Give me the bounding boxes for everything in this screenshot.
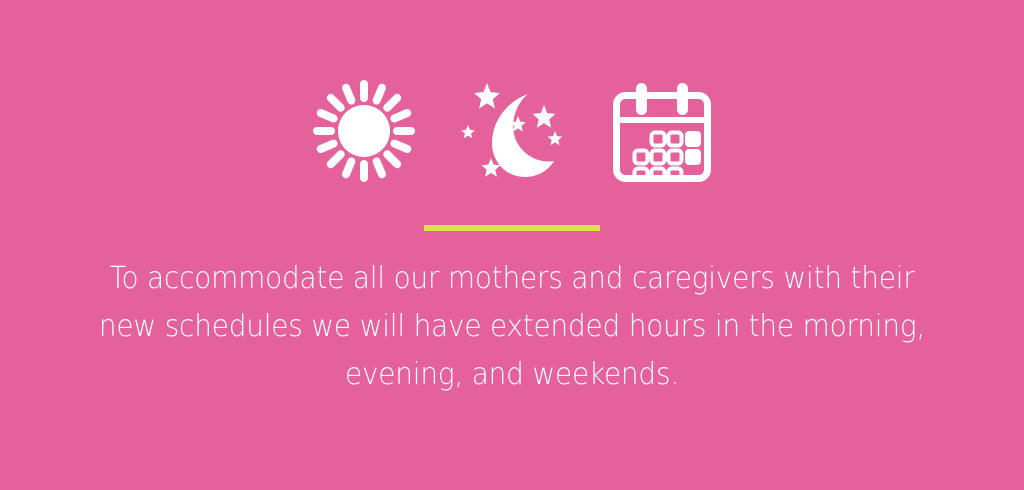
announcement-text: To accommodate all our mothers and careg… [62, 255, 962, 399]
divider-wrap [0, 225, 1024, 231]
announcement-line-1: To accommodate all our mothers and careg… [94, 255, 931, 303]
icon-row [312, 66, 712, 196]
sun-icon [312, 79, 416, 183]
yellow-divider [424, 225, 600, 231]
announcement-line-2: new schedules we will have extended hour… [94, 303, 931, 351]
moon-stars-icon [456, 76, 572, 186]
announcement-line-3: evening, and weekends. [94, 351, 931, 399]
extended-hours-banner: To accommodate all our mothers and careg… [0, 0, 1024, 490]
calendar-icon [612, 79, 712, 183]
